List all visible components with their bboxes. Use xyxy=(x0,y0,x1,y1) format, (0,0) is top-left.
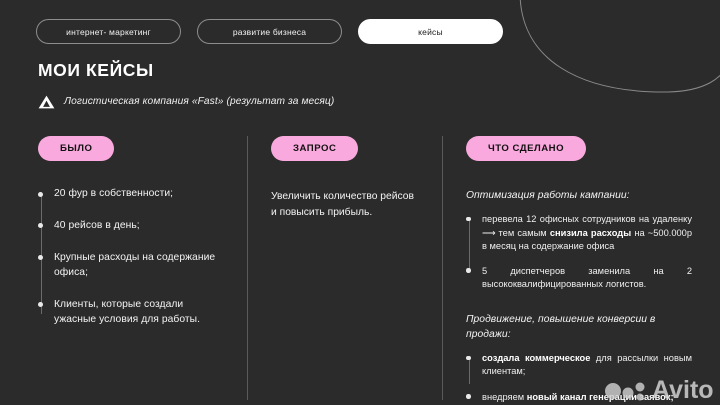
header-block: МОИ КЕЙСЫ Логистическая компания «Fast» … xyxy=(38,62,334,109)
done-list-1: перевела 12 офисных сотрудников на удале… xyxy=(466,213,692,291)
done-section-heading-2: Продвижение, повышение конверсии в прода… xyxy=(466,313,692,342)
list-item: Крупные расходы на содержание офиса; xyxy=(38,251,227,281)
nav-item-internet-marketing[interactable]: интернет- маркетинг xyxy=(36,19,181,44)
nav-item-label: интернет- маркетинг xyxy=(66,27,151,37)
nav-item-label: кейсы xyxy=(418,27,443,37)
nav-item-business-development[interactable]: развитие бизнеса xyxy=(197,19,342,44)
done-section-heading-1: Оптимизация работы кампании: xyxy=(466,189,692,203)
page-title: МОИ КЕЙСЫ xyxy=(38,62,334,80)
list-item: 20 фур в собственности; xyxy=(38,187,227,202)
rich-text: 5 диспетчеров заменила на 2 высококвалиф… xyxy=(482,265,692,291)
status-badge-request[interactable]: ЗАПРОС xyxy=(271,136,358,161)
slide-root: { "theme": { "background": "#2b2b2b", "a… xyxy=(0,0,720,405)
list-item: внедряем новый канал генерации заявок; xyxy=(466,391,692,404)
column-request: ЗАПРОС Увеличить количество рейсов и пов… xyxy=(247,136,442,404)
subtitle: Логистическая компания «Fast» (результат… xyxy=(64,96,334,107)
list-item: 5 диспетчеров заменила на 2 высококвалиф… xyxy=(466,265,692,291)
column-before: БЫЛО 20 фур в собственности; 40 рейсов в… xyxy=(0,136,247,404)
request-paragraph: Увеличить количество рейсов и повысить п… xyxy=(271,189,421,221)
triangle-mountain-icon xyxy=(38,95,55,109)
status-badge-done[interactable]: ЧТО СДЕЛАНО xyxy=(466,136,586,161)
nav-item-cases[interactable]: кейсы xyxy=(358,19,503,44)
status-badge-before[interactable]: БЫЛО xyxy=(38,136,114,161)
list-item: Клиенты, которые создали ужасные условия… xyxy=(38,298,227,328)
rich-text: создала коммерческое для рассылки новым … xyxy=(482,352,692,378)
rich-text: перевела 12 офисных сотрудников на удале… xyxy=(482,213,692,253)
list-item: перевела 12 офисных сотрудников на удале… xyxy=(466,213,692,253)
rich-text: внедряем новый канал генерации заявок; xyxy=(482,391,692,404)
list-item: 40 рейсов в день; xyxy=(38,219,227,234)
cases-columns: БЫЛО 20 фур в собственности; 40 рейсов в… xyxy=(0,136,720,404)
nav-item-label: развитие бизнеса xyxy=(233,27,306,37)
done-list-2: создала коммерческое для рассылки новым … xyxy=(466,352,692,404)
list-item: создала коммерческое для рассылки новым … xyxy=(466,352,692,378)
before-list: 20 фур в собственности; 40 рейсов в день… xyxy=(38,187,227,328)
column-done: ЧТО СДЕЛАНО Оптимизация работы кампании:… xyxy=(442,136,720,404)
subtitle-row: Логистическая компания «Fast» (результат… xyxy=(38,95,334,109)
top-nav: интернет- маркетинг развитие бизнеса кей… xyxy=(36,19,503,44)
